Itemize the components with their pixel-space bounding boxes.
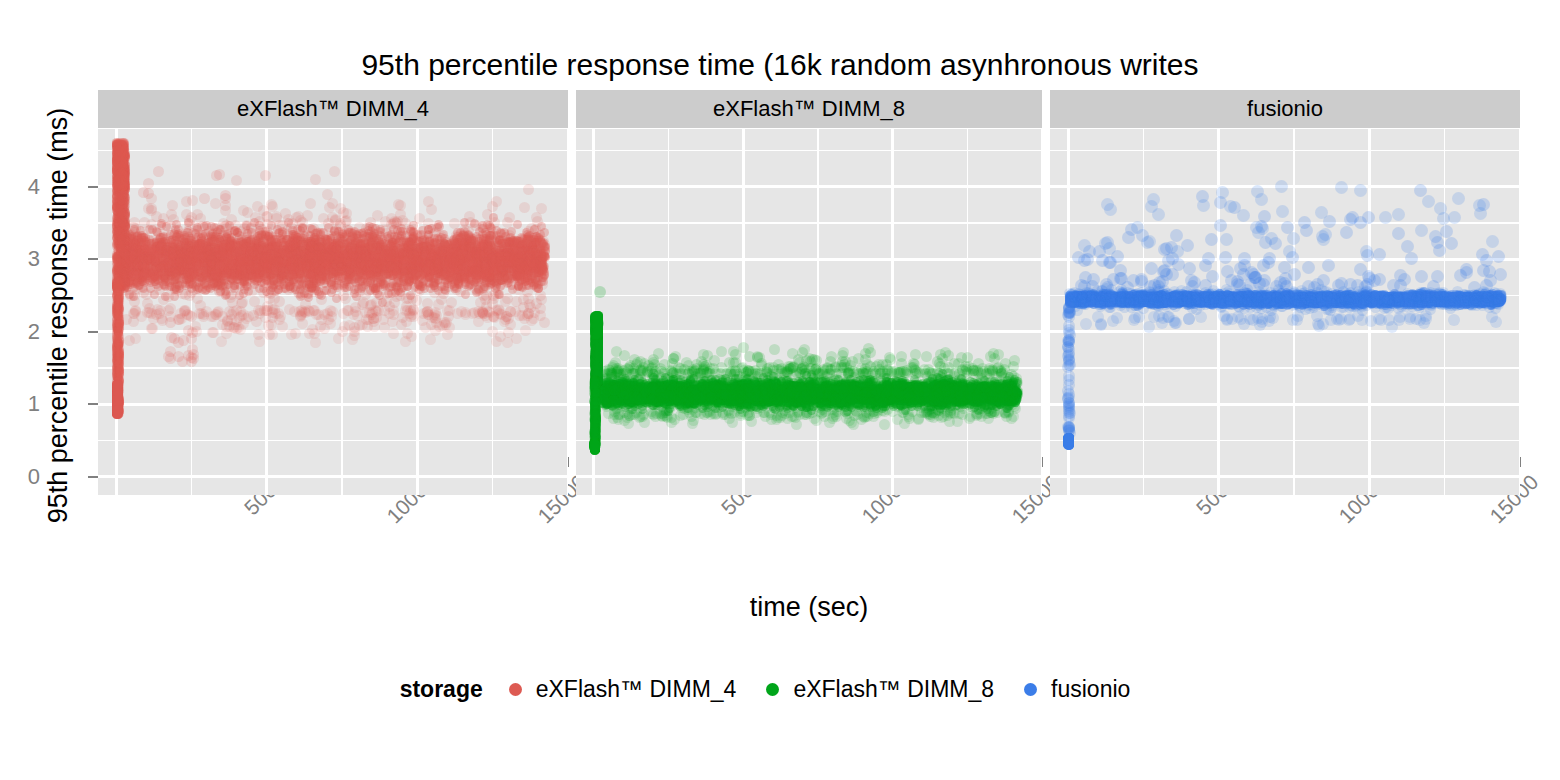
data-point [973, 390, 982, 399]
data-point [715, 385, 724, 394]
data-point [437, 320, 448, 331]
data-point [119, 151, 128, 160]
data-point [954, 368, 965, 379]
data-point [217, 241, 226, 250]
data-point [121, 249, 130, 258]
data-point [948, 377, 957, 386]
data-point [692, 389, 701, 398]
data-point [214, 246, 223, 255]
data-point [342, 240, 351, 249]
data-point [524, 246, 533, 255]
data-point [791, 384, 802, 395]
data-point [125, 229, 136, 240]
data-point [345, 275, 354, 284]
data-point [1415, 299, 1424, 308]
data-point [341, 265, 352, 276]
data-point [1248, 271, 1261, 284]
data-point [910, 388, 919, 397]
data-point [200, 262, 209, 271]
data-point [290, 260, 299, 269]
data-point [1455, 297, 1464, 306]
data-point [451, 240, 460, 249]
data-point [828, 394, 837, 403]
data-point [807, 387, 816, 396]
data-point [478, 283, 489, 294]
data-point [1302, 297, 1311, 306]
data-point [121, 266, 132, 277]
data-point [223, 269, 232, 278]
data-point [1152, 297, 1161, 306]
data-point [609, 385, 620, 396]
data-point [1490, 316, 1502, 328]
data-point [163, 268, 172, 277]
data-point [718, 380, 727, 389]
data-point [763, 381, 772, 390]
data-point [310, 235, 319, 244]
data-point [995, 390, 1004, 399]
data-point [995, 381, 1006, 392]
data-point [1418, 317, 1430, 329]
data-point [1315, 298, 1324, 307]
data-point [116, 231, 125, 240]
data-point [238, 309, 249, 320]
data-point [120, 237, 129, 246]
data-point [1121, 298, 1130, 307]
data-point [223, 270, 232, 279]
data-point [131, 240, 140, 249]
data-point [1451, 299, 1460, 308]
data-point [632, 357, 643, 368]
data-point [783, 383, 792, 392]
data-point [1075, 296, 1084, 305]
data-point [469, 236, 478, 245]
data-point [1233, 297, 1242, 306]
data-point [119, 267, 128, 276]
data-point [1345, 296, 1354, 305]
data-point [988, 394, 997, 403]
data-point [279, 241, 288, 250]
data-point [1090, 297, 1099, 306]
data-point [1190, 300, 1199, 309]
data-point [1272, 296, 1281, 305]
data-point [688, 364, 699, 375]
data-point [472, 242, 481, 251]
data-point [492, 263, 503, 274]
data-point [1122, 296, 1131, 305]
data-point [839, 383, 850, 394]
data-point [120, 154, 129, 163]
data-point [130, 268, 141, 279]
data-point [309, 279, 318, 288]
data-point [1300, 297, 1309, 306]
data-point [1423, 298, 1432, 307]
data-point [605, 388, 614, 397]
data-point [118, 236, 127, 245]
data-point [254, 274, 263, 283]
data-point [247, 266, 256, 275]
data-point [175, 281, 184, 290]
data-point [1005, 385, 1014, 394]
data-point [120, 262, 129, 271]
data-point [1278, 296, 1287, 305]
data-point [652, 382, 661, 391]
data-point [985, 391, 994, 400]
data-point [1258, 296, 1267, 305]
data-point [257, 266, 266, 275]
legend-item-2[interactable]: eXFlash™ DIMM_8 [766, 676, 994, 703]
data-point [615, 388, 624, 397]
legend-item-3[interactable]: fusionio [1024, 676, 1130, 703]
data-point [120, 150, 129, 159]
data-point [464, 237, 475, 248]
data-point [831, 392, 840, 401]
data-point [707, 387, 716, 396]
data-point [236, 267, 245, 276]
data-point [856, 414, 867, 425]
data-point [358, 229, 367, 238]
data-point [973, 389, 982, 398]
data-point [1491, 297, 1500, 306]
data-point [1396, 297, 1405, 306]
data-point [669, 377, 678, 386]
data-point [249, 234, 260, 245]
data-point [146, 308, 157, 319]
data-point [980, 389, 989, 398]
data-point [852, 381, 861, 390]
data-point [712, 386, 721, 395]
data-point [1348, 297, 1357, 306]
data-point [671, 389, 680, 398]
data-point [897, 387, 906, 396]
data-point [508, 246, 517, 255]
data-point [635, 394, 644, 403]
data-point [397, 268, 408, 279]
data-point [268, 261, 277, 270]
data-point [366, 276, 375, 285]
data-point [200, 280, 209, 289]
data-point [594, 336, 603, 345]
data-point [986, 384, 995, 393]
data-point [131, 267, 140, 276]
data-point [1335, 295, 1344, 304]
data-point [862, 382, 871, 391]
data-point [433, 247, 442, 256]
data-point [119, 164, 128, 173]
data-point [983, 387, 992, 396]
data-point [118, 243, 127, 252]
data-point [1316, 295, 1325, 304]
data-point [927, 391, 936, 400]
data-point [766, 392, 775, 401]
data-point [1258, 296, 1267, 305]
data-point [221, 249, 230, 258]
data-point [957, 388, 966, 397]
data-point [805, 356, 816, 367]
data-point [1145, 292, 1154, 301]
data-point [1455, 292, 1466, 303]
data-point [1126, 295, 1135, 304]
data-point [1280, 296, 1289, 305]
data-point [306, 270, 315, 279]
data-point [1462, 300, 1471, 309]
data-point [849, 393, 858, 402]
data-point [521, 246, 530, 255]
data-point [1085, 296, 1094, 305]
data-point [799, 365, 810, 376]
data-point [120, 166, 129, 175]
data-point [651, 384, 660, 393]
data-point [498, 260, 507, 269]
data-point [176, 246, 187, 257]
data-point [532, 265, 541, 274]
data-point [119, 264, 128, 273]
data-point [209, 237, 220, 248]
data-point [861, 389, 870, 398]
data-point [429, 287, 440, 298]
data-point [286, 262, 295, 271]
data-point [631, 391, 640, 400]
data-point [670, 389, 679, 398]
data-point [1408, 296, 1417, 305]
data-point [1146, 295, 1155, 304]
data-point [854, 388, 863, 397]
data-point [1355, 297, 1364, 306]
data-point [402, 238, 411, 247]
data-point [759, 389, 768, 398]
data-point [1413, 296, 1422, 305]
data-point [679, 386, 688, 395]
data-point [234, 247, 243, 256]
data-point [1127, 297, 1136, 306]
data-point [1330, 296, 1339, 305]
data-point [440, 234, 449, 243]
data-point [1133, 296, 1142, 305]
legend-item-1[interactable]: eXFlash™ DIMM_4 [509, 676, 737, 703]
data-point [792, 386, 801, 395]
data-point [1091, 296, 1100, 305]
data-point [768, 386, 777, 395]
data-point [219, 236, 228, 245]
data-point [1222, 299, 1231, 308]
data-point [1186, 292, 1195, 301]
data-point [1496, 297, 1505, 306]
data-point [118, 164, 127, 173]
data-point [327, 198, 338, 209]
data-point [278, 238, 287, 247]
data-point [1326, 288, 1337, 299]
data-point [1467, 297, 1476, 306]
data-point [1295, 296, 1304, 305]
data-point [1070, 297, 1079, 306]
data-point [1326, 297, 1335, 306]
data-point [1123, 296, 1132, 305]
data-point [1332, 295, 1341, 304]
data-point [278, 261, 287, 270]
data-point [662, 384, 671, 393]
data-point [654, 386, 663, 395]
data-point [1194, 297, 1203, 306]
data-point [1265, 298, 1274, 307]
data-point [977, 377, 988, 388]
data-point [871, 386, 880, 395]
data-point [1252, 295, 1261, 304]
data-point [1343, 299, 1352, 308]
data-point [1107, 296, 1116, 305]
data-point [1451, 297, 1460, 306]
data-point [306, 231, 315, 240]
data-point [606, 394, 615, 403]
data-point [1353, 295, 1362, 304]
data-point [872, 389, 881, 398]
data-point [1152, 292, 1163, 303]
data-point [1229, 296, 1238, 305]
data-point [1384, 299, 1393, 308]
data-point [528, 235, 537, 244]
data-point [655, 381, 664, 390]
data-point [268, 260, 277, 269]
data-point [309, 305, 320, 316]
data-point [930, 391, 939, 400]
data-point [975, 386, 984, 395]
data-point [641, 387, 650, 396]
data-point [426, 204, 437, 215]
data-point [330, 247, 339, 256]
data-point [311, 262, 320, 271]
data-point [714, 382, 723, 391]
data-point [1468, 299, 1479, 310]
data-point [226, 264, 237, 275]
data-point [378, 249, 387, 258]
data-point [205, 247, 214, 256]
data-point [307, 284, 316, 293]
data-point [118, 156, 127, 165]
data-point [447, 264, 456, 273]
data-point [702, 388, 711, 397]
data-point [793, 392, 802, 401]
data-point [720, 384, 729, 393]
data-point [629, 384, 638, 393]
data-point [685, 386, 694, 395]
data-point [1276, 299, 1285, 308]
data-point [472, 277, 481, 286]
data-point [374, 260, 383, 269]
data-point [693, 381, 702, 390]
data-point [1147, 291, 1158, 302]
data-point [305, 246, 314, 255]
gridline-minor-horizontal [576, 295, 1042, 297]
data-point [773, 386, 782, 395]
data-point [1423, 299, 1432, 308]
data-point [931, 388, 940, 397]
data-point [1375, 293, 1384, 302]
data-point [951, 386, 960, 395]
data-point [1238, 298, 1247, 307]
data-point [1087, 296, 1096, 305]
data-point [278, 249, 287, 258]
data-point [136, 281, 147, 292]
data-point [1311, 296, 1320, 305]
data-point [754, 386, 763, 395]
data-point [861, 385, 870, 394]
data-point [850, 391, 859, 400]
data-point [516, 265, 525, 274]
data-point [119, 172, 128, 181]
data-point [539, 261, 548, 270]
data-point [694, 392, 703, 401]
data-point [763, 385, 772, 394]
data-point [623, 391, 632, 400]
data-point [289, 267, 298, 276]
data-point [524, 234, 533, 243]
data-point [1256, 292, 1265, 301]
data-point [794, 377, 803, 386]
data-point [420, 246, 429, 255]
y-tick-label: 4 [0, 174, 40, 200]
data-point [1472, 295, 1483, 306]
data-point [1372, 297, 1381, 306]
data-point [470, 247, 481, 258]
data-point [608, 386, 617, 395]
data-point [121, 209, 130, 218]
data-point [690, 387, 699, 396]
data-point [276, 269, 287, 280]
data-point [958, 389, 967, 398]
data-point [748, 387, 757, 396]
data-point [1331, 297, 1342, 308]
data-point [658, 383, 667, 392]
data-point [1421, 292, 1430, 301]
data-point [1130, 289, 1139, 298]
data-point [392, 266, 401, 275]
data-point [1431, 296, 1440, 305]
data-point [931, 389, 940, 398]
data-point [215, 268, 224, 277]
data-point [982, 381, 991, 390]
data-point [684, 392, 693, 401]
data-point [1325, 314, 1337, 326]
data-point [268, 232, 277, 241]
data-point [1407, 295, 1416, 304]
data-point [841, 389, 850, 398]
data-point [1131, 299, 1140, 308]
data-point [679, 391, 688, 400]
data-point [1350, 298, 1359, 307]
data-point [1314, 296, 1323, 305]
data-point [812, 383, 821, 392]
data-point [512, 264, 521, 273]
data-point [830, 380, 839, 389]
data-point [762, 372, 773, 383]
data-point [1327, 296, 1336, 305]
data-point [674, 389, 683, 398]
data-point [1110, 298, 1119, 307]
data-point [854, 368, 865, 379]
data-point [318, 263, 327, 272]
data-point [240, 261, 249, 270]
data-point [914, 391, 923, 400]
data-point [145, 225, 154, 234]
data-point [1154, 295, 1165, 306]
data-point [1433, 297, 1442, 306]
data-point [509, 267, 518, 276]
data-point [688, 387, 697, 396]
data-point [1150, 295, 1161, 306]
data-point [1181, 291, 1192, 302]
data-point [316, 265, 325, 274]
data-point [538, 273, 547, 282]
data-point [223, 268, 232, 277]
data-point [180, 231, 189, 240]
